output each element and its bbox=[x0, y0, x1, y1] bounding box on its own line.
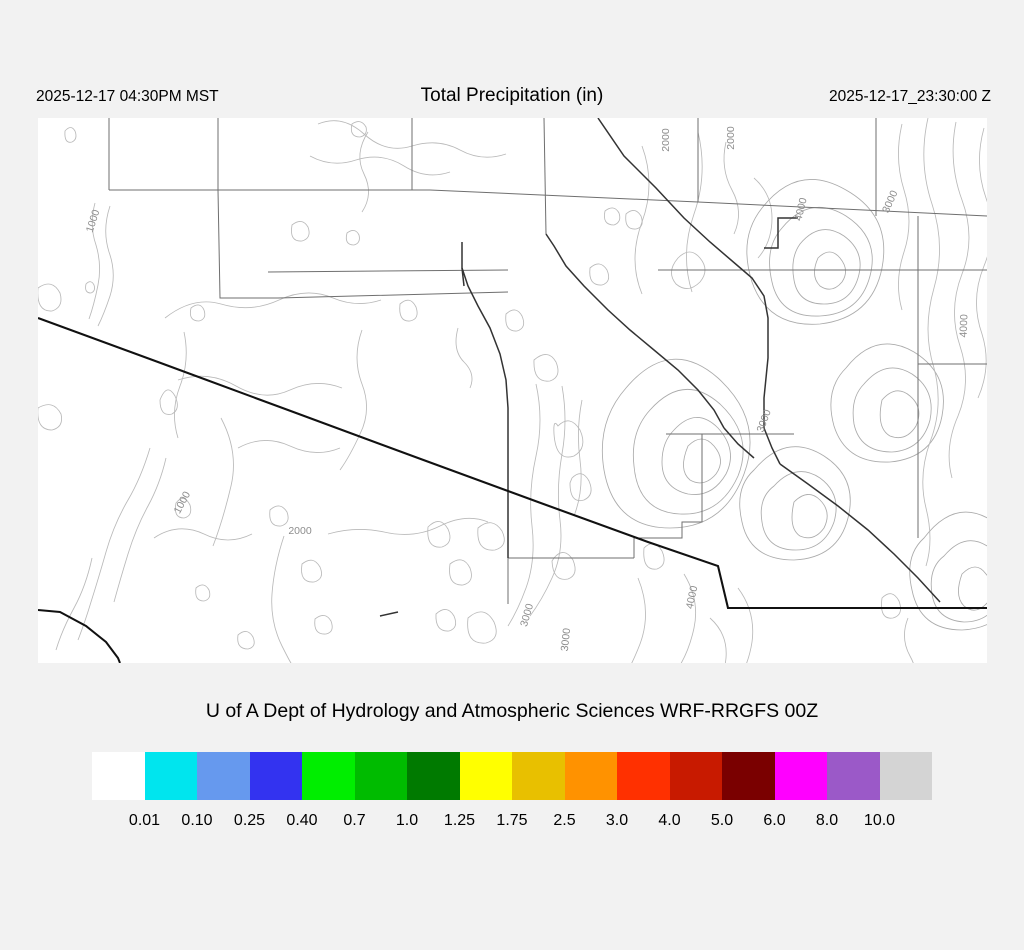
colorbar-tick-5.0: 5.0 bbox=[711, 812, 733, 830]
valid-time-utc-label: 2025-12-17_23:30:00 Z bbox=[829, 88, 991, 106]
contour-label-2000-3: 2000 bbox=[660, 128, 672, 152]
colorbar[interactable] bbox=[92, 752, 932, 800]
colorbar-tick-3.0: 3.0 bbox=[606, 812, 628, 830]
colorbar-swatches[interactable] bbox=[92, 752, 932, 800]
colorbar-tick-2.5: 2.5 bbox=[553, 812, 575, 830]
colorbar-tick-1.25: 1.25 bbox=[444, 812, 475, 830]
map-background bbox=[38, 118, 987, 663]
colorbar-swatch-14[interactable] bbox=[827, 752, 880, 800]
contour-label-3000-6: 3000 bbox=[559, 627, 573, 652]
contour-label-2000-2: 2000 bbox=[288, 525, 312, 537]
colorbar-tick-0.40: 0.40 bbox=[286, 812, 317, 830]
contour-label-4000-11: 4000 bbox=[958, 314, 971, 338]
colorbar-swatch-4[interactable] bbox=[302, 752, 355, 800]
colorbar-swatch-9[interactable] bbox=[565, 752, 618, 800]
contour-label-2000-4: 2000 bbox=[725, 126, 737, 150]
colorbar-swatch-2[interactable] bbox=[197, 752, 250, 800]
colorbar-swatch-12[interactable] bbox=[722, 752, 775, 800]
colorbar-tick-1.75: 1.75 bbox=[496, 812, 527, 830]
colorbar-tick-0.10: 0.10 bbox=[181, 812, 212, 830]
colorbar-swatch-1[interactable] bbox=[145, 752, 198, 800]
model-source-title: U of A Dept of Hydrology and Atmospheric… bbox=[0, 700, 1024, 723]
colorbar-tick-8.0: 8.0 bbox=[816, 812, 838, 830]
map-panel[interactable]: 1000100020002000200030003000300030004000… bbox=[38, 118, 987, 663]
colorbar-tick-labels: 0.010.100.250.400.71.01.251.752.53.04.05… bbox=[92, 812, 932, 838]
colorbar-swatch-3[interactable] bbox=[250, 752, 303, 800]
colorbar-swatch-10[interactable] bbox=[617, 752, 670, 800]
colorbar-tick-1.0: 1.0 bbox=[396, 812, 418, 830]
colorbar-swatch-8[interactable] bbox=[512, 752, 565, 800]
colorbar-tick-4.0: 4.0 bbox=[658, 812, 680, 830]
colorbar-swatch-5[interactable] bbox=[355, 752, 408, 800]
colorbar-swatch-11[interactable] bbox=[670, 752, 723, 800]
colorbar-swatch-13[interactable] bbox=[775, 752, 828, 800]
colorbar-swatch-7[interactable] bbox=[460, 752, 513, 800]
colorbar-tick-0.25: 0.25 bbox=[234, 812, 265, 830]
colorbar-swatch-6[interactable] bbox=[407, 752, 460, 800]
map-canvas[interactable]: 1000100020002000200030003000300030004000… bbox=[38, 118, 987, 663]
colorbar-tick-6.0: 6.0 bbox=[763, 812, 785, 830]
forecast-map-page: 2025-12-17 04:30PM MST Total Precipitati… bbox=[0, 0, 1024, 950]
colorbar-tick-0.7: 0.7 bbox=[343, 812, 365, 830]
colorbar-tick-10.0: 10.0 bbox=[864, 812, 895, 830]
colorbar-swatch-0[interactable] bbox=[92, 752, 145, 800]
colorbar-swatch-15[interactable] bbox=[880, 752, 933, 800]
colorbar-tick-0.01: 0.01 bbox=[129, 812, 160, 830]
